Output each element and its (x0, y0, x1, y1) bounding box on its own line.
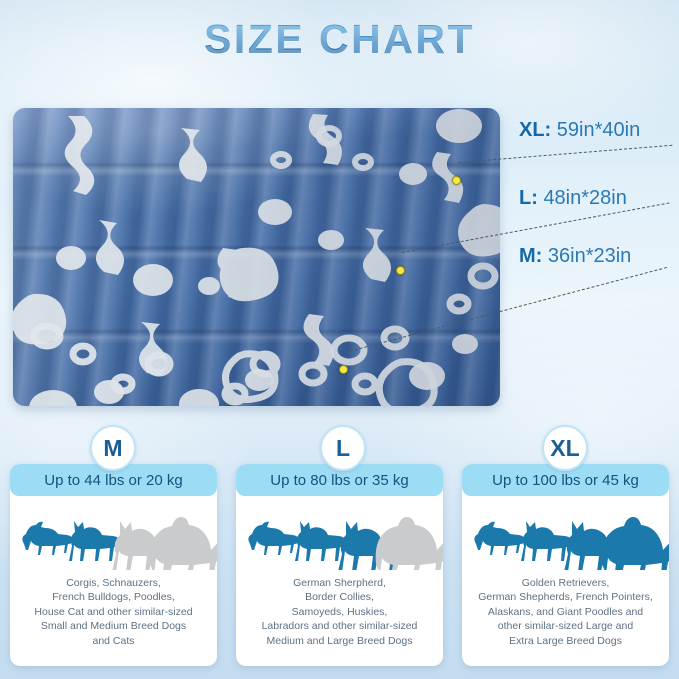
size-card-xl[interactable]: Up to 100 lbs or 45 kg Golden Retrievers… (462, 464, 669, 666)
dog-silhouettes-l (236, 504, 443, 570)
breed-line: Alaskans, and Giant Poodles and (468, 605, 663, 619)
breed-line: Corgis, Schnauzers, (16, 576, 211, 590)
size-badge-l: L (320, 425, 366, 471)
size-badge-xl: XL (542, 425, 588, 471)
product-mat-image (13, 108, 500, 406)
mat-sheen (13, 108, 500, 406)
breed-line: Golden Retrievers, (468, 576, 663, 590)
breed-line: French Bulldogs, Poodles, (16, 590, 211, 604)
dog-silhouette-2 (295, 521, 346, 561)
size-label-m: M: 36in*23in (519, 245, 631, 268)
breed-line: and Cats (16, 634, 211, 648)
size-label-xl: XL: 59in*40in (519, 119, 640, 142)
size-card-l[interactable]: Up to 80 lbs or 35 kg German Sherpherd, … (236, 464, 443, 666)
breed-line: House Cat and other similar-sized (16, 605, 211, 619)
page-title: SIZE CHART (204, 16, 475, 63)
size-label-xl-tag: XL: (519, 119, 557, 141)
size-card-m[interactable]: Up to 44 lbs or 20 kg Corgis, Schnauzers… (10, 464, 217, 666)
size-badge-m: M (90, 425, 136, 471)
breed-line: Extra Large Breed Dogs (468, 634, 663, 648)
breed-list-xl: Golden Retrievers, German Shepherds, Fre… (468, 576, 663, 648)
breed-line: Border Collies, (242, 590, 437, 604)
breed-line: Medium and Large Breed Dogs (242, 634, 437, 648)
size-label-l-dims: 48in*28in (543, 187, 626, 209)
size-label-xl-dims: 59in*40in (557, 119, 640, 141)
title-bar: SIZE CHART (0, 16, 679, 63)
dog-silhouette-2 (69, 521, 120, 561)
size-label-m-tag: M: (519, 245, 548, 267)
breed-list-m: Corgis, Schnauzers, French Bulldogs, Poo… (16, 576, 211, 648)
dog-silhouette-4 (150, 517, 217, 570)
dog-silhouettes-m (10, 504, 217, 570)
breed-list-l: German Sherpherd, Border Collies, Samoye… (242, 576, 437, 648)
dog-silhouettes-xl (462, 504, 669, 570)
breed-line: Small and Medium Breed Dogs (16, 619, 211, 633)
breed-line: other similar-sized Large and (468, 619, 663, 633)
breed-line: Samoyeds, Huskies, (242, 605, 437, 619)
dog-silhouette-1 (248, 522, 299, 555)
dog-silhouette-4 (602, 517, 669, 570)
dog-silhouette-1 (22, 522, 73, 555)
size-label-l-tag: L: (519, 187, 543, 209)
breed-line: German Sherpherd, (242, 576, 437, 590)
breed-line: Labradors and other similar-sized (242, 619, 437, 633)
breed-line: German Shepherds, French Pointers, (468, 590, 663, 604)
dog-silhouette-4 (376, 517, 443, 570)
dog-silhouette-1 (474, 522, 525, 555)
size-label-l: L: 48in*28in (519, 187, 627, 210)
dog-silhouette-2 (521, 521, 572, 561)
size-label-m-dims: 36in*23in (548, 245, 631, 267)
